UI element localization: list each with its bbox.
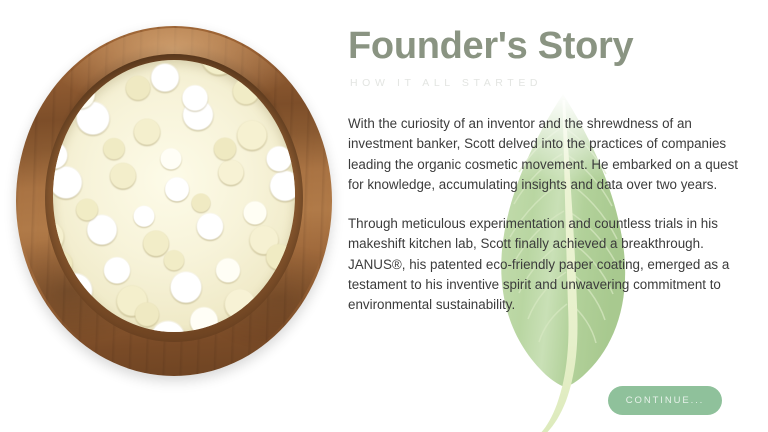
story-paragraph-1: With the curiosity of an inventor and th… — [348, 114, 752, 195]
founders-story-slide: Founder's Story HOW IT ALL STARTED With … — [0, 0, 768, 432]
wooden-bowl-photo — [16, 26, 332, 376]
story-body: With the curiosity of an inventor and th… — [348, 114, 752, 316]
page-subtitle: HOW IT ALL STARTED — [350, 77, 542, 89]
content-column: Founder's Story HOW IT ALL STARTED With … — [347, 0, 768, 432]
page-title: Founder's Story — [348, 25, 633, 68]
story-paragraph-2: Through meticulous experimentation and c… — [348, 214, 752, 315]
continue-button[interactable]: CONTINUE... — [608, 386, 722, 415]
wax-pellets — [53, 60, 295, 332]
